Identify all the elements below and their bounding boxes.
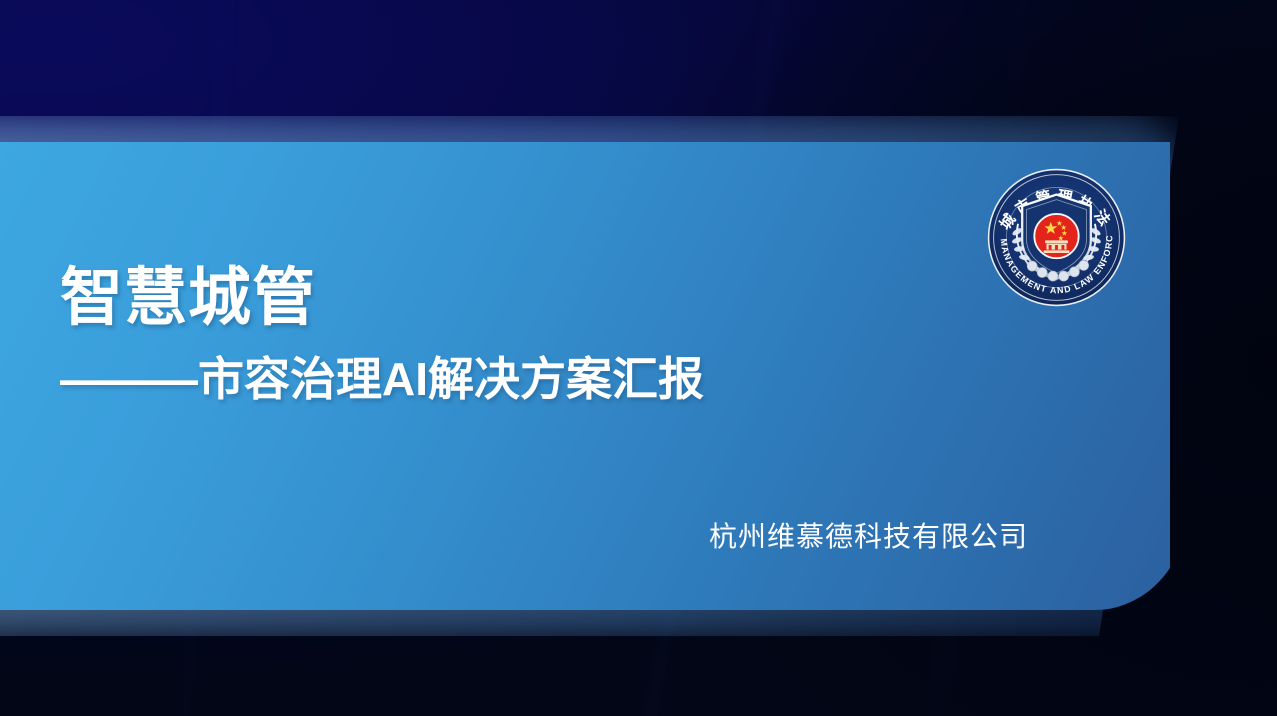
company-name: 杭州维慕德科技有限公司: [709, 515, 1028, 555]
title-slide: 城市管理执法 URBAN MANAGEMENT AND LAW ENFORCEM…: [0, 0, 1277, 716]
page-subtitle: ———市容治理AI解决方案汇报: [60, 352, 704, 406]
page-title: 智慧城管: [60, 264, 316, 332]
emblem: 城市管理执法 URBAN MANAGEMENT AND LAW ENFORCEM…: [985, 166, 1128, 309]
